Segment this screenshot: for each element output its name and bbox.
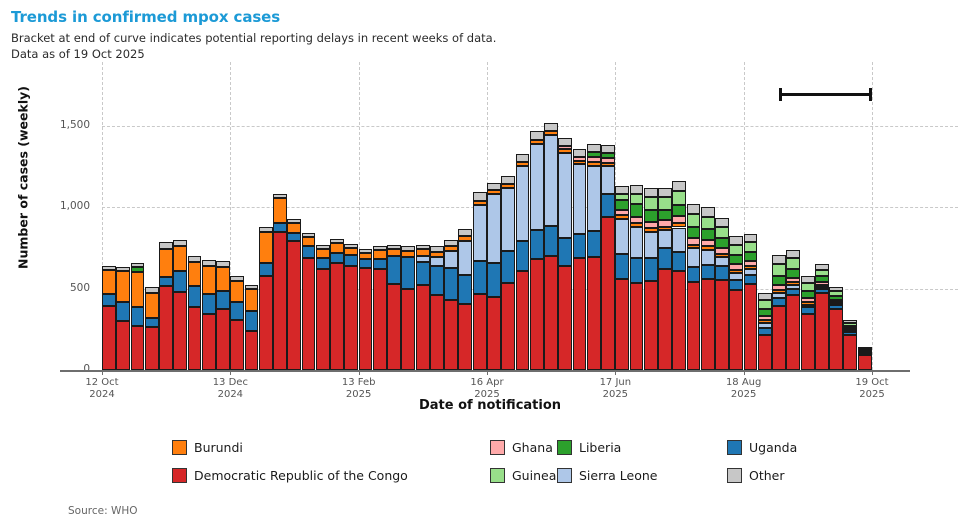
bar-segment-liberia [587,152,601,158]
bar-segment-sierra-leone [473,205,487,261]
bar-segment-liberia [829,296,843,300]
bar-segment-uganda [544,226,558,256]
bar-segment-uganda [444,268,458,300]
x-tick-label: 19 Oct2025 [832,377,912,401]
bar-segment-burundi [658,227,672,230]
bar-segment-sierra-leone [658,230,672,248]
bar-segment-liberia [601,153,615,159]
bar-segment-other [316,245,330,249]
bar-segment-ghana [601,158,615,163]
bar-segment-liberia [729,255,743,264]
bar-segment-uganda [145,318,159,327]
x-tick-label: 13 Feb2025 [319,377,399,401]
legend-item-liberia[interactable]: Liberia [557,440,621,455]
bar-segment-burundi [416,249,430,256]
bar-segment-guinea [672,191,686,205]
bar-segment-democratic-republic-of-the-congo [359,268,373,370]
bar-segment-burundi [302,237,316,246]
bar-segment-democratic-republic-of-the-congo [687,282,701,370]
bar-segment-other [245,285,259,290]
bar-segment-ghana [801,298,815,302]
bar-segment-burundi [501,184,515,188]
bar-column [330,239,344,370]
bar-segment-other [630,185,644,194]
bar-segment-guinea [729,245,743,256]
legend-swatch-icon [172,468,187,483]
bar-segment-burundi [216,267,230,291]
legend-swatch-icon [727,440,742,455]
bar-column [116,267,130,370]
bar-segment-burundi [758,320,772,322]
bar-segment-democratic-republic-of-the-congo [558,266,572,370]
bar-segment-sierra-leone [430,257,444,266]
bar-segment-democratic-republic-of-the-congo [672,271,686,370]
bar-segment-uganda [430,266,444,295]
bar-column [287,219,301,370]
bar-column [558,138,572,370]
bar-segment-democratic-republic-of-the-congo [501,283,515,370]
bar-segment-democratic-republic-of-the-congo [843,335,857,370]
bar-column [145,287,159,370]
bar-segment-other [416,245,430,250]
bar-segment-uganda [202,294,216,314]
legend-label: Sierra Leone [579,468,658,483]
bar-segment-uganda [287,233,301,241]
legend-label: Ghana [512,440,553,455]
bar-segment-burundi [644,228,658,232]
bar-segment-democratic-republic-of-the-congo [216,309,230,370]
bar-segment-liberia [701,229,715,240]
bar-segment-liberia [644,210,658,222]
legend-item-burundi[interactable]: Burundi [172,440,243,455]
x-tick-mark [487,370,488,375]
bar-column [416,245,430,370]
bar-segment-democratic-republic-of-the-congo [544,256,558,370]
bar-segment-burundi [601,163,615,166]
bar-column [729,236,743,370]
bar-segment-ghana [715,248,729,254]
bar-column [273,194,287,370]
bar-segment-ghana [672,216,686,223]
bar-segment-uganda [772,298,786,307]
bar-segment-other [116,267,130,272]
bar-segment-guinea [687,214,701,227]
bar-column [344,244,358,370]
bar-segment-other [287,219,301,223]
bar-segment-other [359,249,373,253]
y-tick-label-1000: 1,000 [50,200,90,212]
bar-segment-uganda [573,234,587,258]
x-tick-year: 2024 [218,389,243,400]
bar-segment-sierra-leone [744,269,758,275]
bar-segment-sierra-leone [530,144,544,230]
bar-segment-burundi [701,246,715,250]
bar-segment-democratic-republic-of-the-congo [458,304,472,370]
bracket-bar [779,93,872,96]
bar-column [387,245,401,370]
chart-plot-area: Number of cases (weekly) Date of notific… [0,0,970,420]
x-tick-year: 2025 [859,389,884,400]
legend-item-ghana[interactable]: Ghana [490,440,553,455]
bar-segment-other [701,207,715,217]
bar-segment-other [829,287,843,291]
legend-label: Burundi [194,440,243,455]
bar-segment-democratic-republic-of-the-congo [416,285,430,370]
bar-segment-uganda [815,289,829,294]
y-tick-label-1500: 1,500 [50,119,90,131]
bar-segment-burundi [316,249,330,258]
bar-segment-guinea [630,194,644,204]
bar-segment-democratic-republic-of-the-congo [729,290,743,370]
bar-segment-uganda [715,266,729,280]
bar-segment-democratic-republic-of-the-congo [330,263,344,370]
bar-column [644,188,658,370]
bar-segment-sierra-leone [687,248,701,267]
bar-segment-burundi [145,293,159,317]
legend-item-other[interactable]: Other [727,468,785,483]
x-tick-year: 2025 [731,389,756,400]
legend-swatch-icon [490,440,505,455]
bar-segment-ghana [758,316,772,320]
bar-segment-uganda [188,286,202,306]
bar-segment-democratic-republic-of-the-congo [159,286,173,370]
bar-segment-uganda [729,280,743,290]
bar-segment-uganda [658,248,672,269]
x-tick-mark [872,370,873,375]
bar-segment-democratic-republic-of-the-congo [516,271,530,370]
bar-segment-uganda [230,302,244,319]
y-tick-label-0: 0 [50,363,90,375]
bar-segment-democratic-republic-of-the-congo [715,280,729,370]
bar-segment-burundi [530,140,544,144]
x-tick-mark [615,370,616,375]
bar-segment-sierra-leone [701,250,715,265]
bar-segment-burundi [359,253,373,260]
x-tick-year: 2025 [474,389,499,400]
bar-column [401,246,415,370]
bar-segment-democratic-republic-of-the-congo [744,284,758,370]
bar-segment-guinea [615,194,629,200]
bar-column [359,249,373,370]
bar-segment-liberia [672,205,686,216]
x-tick-date: 13 Feb [342,377,376,388]
bar-segment-democratic-republic-of-the-congo [145,327,159,370]
bar-segment-uganda [630,258,644,283]
bar-segment-uganda [131,307,145,326]
bar-segment-sierra-leone [729,273,743,280]
bar-segment-liberia [630,204,644,217]
legend-swatch-icon [557,440,572,455]
bar-segment-other [758,293,772,300]
bar-segment-democratic-republic-of-the-congo [786,295,800,370]
bar-segment-democratic-republic-of-the-congo [430,295,444,370]
bar-segment-other [330,239,344,243]
bar-segment-liberia [786,269,800,278]
bar-segment-guinea [644,197,658,209]
bar-segment-sierra-leone [772,293,786,297]
bar-segment-other [573,149,587,157]
x-tick-mark [102,370,103,375]
legend-label: Guinea [512,468,556,483]
bar-segment-guinea [801,283,815,291]
bar-segment-ghana [729,264,743,270]
bar-segment-democratic-republic-of-the-congo [815,293,829,370]
bar-segment-burundi [159,249,173,278]
bar-column [259,227,273,370]
x-tick-date: 12 Oct [85,377,118,388]
bar-segment-other [145,287,159,294]
x-tick-label: 16 Apr2025 [447,377,527,401]
x-tick-label: 18 Aug2025 [704,377,784,401]
x-tick-date: 13 Dec [213,377,248,388]
bar-segment-democratic-republic-of-the-congo [387,284,401,370]
bar-segment-other [587,144,601,152]
x-tick-label: 17 Jun2025 [575,377,655,401]
bar-segment-uganda [473,261,487,294]
bar-column [772,255,786,370]
bar-segment-other [687,204,701,214]
bar-segment-democratic-republic-of-the-congo [772,306,786,370]
bar-column [758,293,772,370]
bar-segment-democratic-republic-of-the-congo [801,314,815,370]
bar-segment-burundi [473,201,487,205]
bar-segment-democratic-republic-of-the-congo [530,259,544,370]
bar-column [188,256,202,370]
bar-segment-burundi [744,266,758,269]
bar-column [829,287,843,370]
bar-segment-sierra-leone [630,227,644,258]
bar-segment-liberia [772,276,786,286]
x-tick-mark [359,370,360,375]
bar-segment-liberia [658,210,672,221]
bar-segment-ghana [786,278,800,282]
x-tick-year: 2025 [346,389,371,400]
bar-segment-other [801,276,815,283]
bar-segment-guinea [843,323,857,326]
bar-segment-other [530,131,544,140]
x-tick-mark [744,370,745,375]
bar-segment-other [858,347,872,349]
bar-segment-uganda [216,291,230,309]
bar-segment-burundi [401,251,415,257]
bar-segment-uganda [116,302,130,322]
bar-segment-uganda [601,194,615,217]
bar-segment-sierra-leone [715,257,729,266]
bar-segment-other [772,255,786,264]
bar-segment-other [202,260,216,266]
bar-segment-liberia [615,200,629,210]
bar-segment-burundi [573,161,587,164]
bar-segment-democratic-republic-of-the-congo [116,321,130,370]
bar-segment-other [601,145,615,152]
bar-column [230,276,244,370]
bar-segment-uganda [587,231,601,257]
bar-segment-other [615,186,629,194]
y-tick-label-500: 500 [50,282,90,294]
bar-segment-burundi [729,270,743,273]
x-axis-line [60,370,910,372]
legend-item-uganda[interactable]: Uganda [727,440,797,455]
bar-segment-other [815,264,829,270]
chart-legend: BurundiDemocratic Republic of the CongoG… [172,440,832,496]
bar-segment-burundi [430,252,444,257]
legend-label: Liberia [579,440,621,455]
bar-segment-uganda [786,289,800,296]
bar-segment-democratic-republic-of-the-congo [615,279,629,370]
bar-column [373,246,387,370]
bar-segment-sierra-leone [416,256,430,262]
bar-segment-guinea [658,197,672,210]
bar-segment-other [473,192,487,200]
bar-column [786,250,800,370]
bar-segment-burundi [444,246,458,251]
bar-segment-other [843,320,857,323]
bar-segment-democratic-republic-of-the-congo [344,266,358,370]
bar-segment-sierra-leone [786,285,800,288]
bar-segment-democratic-republic-of-the-congo [302,258,316,370]
bar-segment-democratic-republic-of-the-congo [758,335,772,370]
bar-segment-other [729,236,743,244]
bar-column [744,234,758,370]
legend-label: Uganda [749,440,797,455]
legend-swatch-icon [490,468,505,483]
x-tick-label: 13 Dec2024 [190,377,270,401]
bar-segment-burundi [102,270,116,294]
bar-segment-democratic-republic-of-the-congo [658,269,672,370]
bar-segment-uganda [373,259,387,269]
bar-segment-burundi [772,290,786,293]
bar-segment-burundi [672,223,686,227]
bar-column [615,186,629,370]
bar-column [672,181,686,370]
bar-segment-other [230,276,244,281]
bar-segment-other [216,261,230,267]
bar-segment-guinea [744,242,758,252]
bar-segment-burundi [259,232,273,264]
bar-column [501,176,515,370]
bar-segment-sierra-leone [615,219,629,253]
bar-column [801,276,815,370]
bar-segment-sierra-leone [544,135,558,226]
legend-item-democratic-republic-of-the-congo[interactable]: Democratic Republic of the Congo [172,468,408,483]
bar-segment-uganda [516,241,530,271]
bar-segment-burundi [116,271,130,301]
bar-segment-liberia [843,326,857,328]
legend-item-guinea[interactable]: Guinea [490,468,556,483]
bar-segment-other [672,181,686,191]
bar-segment-sierra-leone [444,251,458,268]
bar-segment-burundi [558,149,572,153]
x-tick-date: 16 Apr [470,377,503,388]
bar-segment-burundi [487,190,501,194]
bar-segment-burundi [330,243,344,253]
bar-column [102,266,116,370]
bar-segment-democratic-republic-of-the-congo [102,306,116,370]
bar-segment-other [516,154,530,161]
bar-segment-sierra-leone [644,232,658,257]
bar-segment-sierra-leone [458,241,472,275]
bar-segment-guinea [758,300,772,309]
bar-column [202,260,216,370]
legend-swatch-icon [727,468,742,483]
bar-segment-uganda [359,259,373,268]
bar-segment-liberia [801,291,815,298]
bar-segment-democratic-republic-of-the-congo [858,355,872,370]
bar-segment-uganda [758,328,772,335]
bar-column [302,233,316,370]
bar-segment-other [102,266,116,270]
bar-segment-liberia [131,267,145,272]
bar-segment-guinea [829,291,843,296]
bar-segment-other [188,256,202,262]
bar-segment-burundi [344,248,358,255]
bar-segment-burundi [687,245,701,248]
bar-segment-democratic-republic-of-the-congo [202,314,216,370]
bar-segment-uganda [487,263,501,297]
bar-column [815,264,829,370]
bar-segment-other [501,176,515,183]
bar-column [487,183,501,370]
bar-segment-other [430,246,444,252]
bar-segment-other [302,233,316,237]
bar-segment-uganda [672,252,686,271]
bar-segment-burundi [801,302,815,304]
bar-segment-democratic-republic-of-the-congo [259,276,273,370]
bar-segment-other [173,240,187,247]
bar-column [687,204,701,370]
gridline-x-19-oct [872,62,873,370]
bar-segment-uganda [401,257,415,290]
bar-segment-guinea [786,258,800,269]
bar-segment-sierra-leone [601,166,615,194]
bar-segment-democratic-republic-of-the-congo [245,331,259,370]
bar-segment-uganda [744,275,758,284]
bar-segment-burundi [516,162,530,166]
bar-segment-uganda [701,265,715,279]
bar-segment-sierra-leone [801,305,815,307]
bar-segment-other [159,242,173,249]
bar-segment-uganda [387,256,401,285]
bar-segment-democratic-republic-of-the-congo [573,258,587,370]
legend-item-sierra-leone[interactable]: Sierra Leone [557,468,658,483]
bar-segment-uganda [330,253,344,263]
bar-segment-burundi [245,289,259,310]
bar-segment-other [786,250,800,258]
bar-segment-ghana [558,146,572,149]
bar-segment-guinea [701,217,715,229]
bar-column [701,207,715,370]
bar-segment-democratic-republic-of-the-congo [316,269,330,370]
bar-segment-ghana [587,157,601,162]
bar-column [245,285,259,371]
bar-column [715,218,729,370]
bar-segment-uganda [558,238,572,266]
bar-segment-ghana [573,157,587,161]
bar-column [858,347,872,370]
bar-segment-sierra-leone [587,166,601,230]
bar-segment-uganda [316,258,330,269]
bar-segment-democratic-republic-of-the-congo [188,307,202,371]
bar-segment-sierra-leone [558,153,572,238]
chart-page: Trends in confirmed mpox cases Bracket a… [0,0,970,531]
y-axis-label: Number of cases (weekly) [16,63,31,293]
bar-segment-guinea [815,270,829,277]
bar-column [159,242,173,370]
bar-column [131,263,145,370]
bar-segment-uganda [458,275,472,304]
bar-segment-democratic-republic-of-the-congo [601,217,615,370]
bar-segment-other [715,218,729,227]
